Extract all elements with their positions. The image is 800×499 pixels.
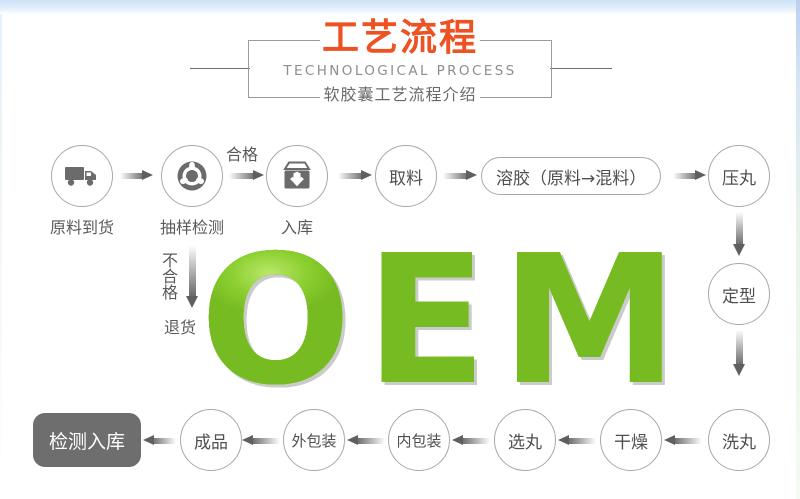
inbox-down-arrow-icon [267, 146, 327, 206]
node-pellet-sorting[interactable]: 选丸 [494, 409, 556, 471]
arrow-drying-to-sorting [558, 435, 596, 446]
arrow-fail-branch [186, 245, 199, 308]
arrow-inner-to-outer-packaging [347, 435, 385, 446]
node-material-picking-text: 取料 [389, 164, 423, 189]
arrow-arrival-to-sampling [120, 170, 153, 181]
label-raw-material-arrival: 原料到货 [31, 214, 133, 238]
node-gel-melting[interactable]: 溶胶（原料→混料） [481, 157, 661, 195]
arrow-outer-packaging-to-finished [242, 435, 280, 446]
node-pellet-sorting-text: 选丸 [508, 428, 542, 453]
node-pellet-washing[interactable]: 洗丸 [708, 409, 770, 471]
arrow-picking-to-gel [443, 170, 477, 181]
node-drying-text: 干燥 [614, 428, 648, 453]
arrow-warehousing-to-picking [338, 170, 372, 181]
caption-return: 退货 [164, 314, 196, 338]
label-warehousing: 入库 [256, 214, 338, 238]
node-sampling-inspection[interactable] [161, 145, 223, 207]
node-raw-material-arrival[interactable] [51, 145, 113, 207]
node-final-inspection-warehousing[interactable]: 检测入库 [33, 413, 141, 467]
caption-pass: 合格 [226, 141, 258, 165]
node-inner-packaging-text: 内包装 [396, 430, 441, 451]
node-warehousing[interactable] [266, 145, 328, 207]
node-pellet-pressing[interactable]: 压丸 [708, 145, 770, 207]
node-gel-melting-text: 溶胶（原料→混料） [496, 164, 646, 189]
arrow-sorting-to-inner-packaging [452, 435, 490, 446]
node-shaping-text: 定型 [722, 282, 756, 307]
label-sampling-inspection: 抽样检测 [141, 214, 243, 238]
arrow-shaping-to-washing [733, 330, 746, 376]
node-material-picking[interactable]: 取料 [375, 145, 437, 207]
truck-icon [52, 146, 112, 206]
process-flow-infographic: 工艺流程 TECHNOLOGICAL PROCESS 软胶囊工艺流程介绍 OEM… [0, 0, 800, 499]
caption-fail: 不合格 [160, 252, 176, 300]
node-outer-packaging[interactable]: 外包装 [283, 409, 345, 471]
inspection-gear-icon [162, 146, 222, 206]
node-finished-product-text: 成品 [194, 428, 228, 453]
arrow-pressing-to-shaping [733, 212, 746, 256]
arrow-washing-to-drying [664, 435, 702, 446]
arrow-gel-to-pressing [673, 170, 706, 181]
node-pellet-pressing-text: 压丸 [722, 164, 756, 189]
arrow-finished-to-final-inspection [143, 435, 176, 446]
node-pellet-washing-text: 洗丸 [722, 428, 756, 453]
node-finished-product[interactable]: 成品 [180, 409, 242, 471]
arrow-sampling-to-warehousing [229, 170, 264, 181]
node-outer-packaging-text: 外包装 [291, 430, 336, 451]
node-shaping[interactable]: 定型 [708, 263, 770, 325]
node-drying[interactable]: 干燥 [600, 409, 662, 471]
node-final-inspection-text: 检测入库 [49, 427, 125, 454]
node-inner-packaging[interactable]: 内包装 [388, 409, 450, 471]
